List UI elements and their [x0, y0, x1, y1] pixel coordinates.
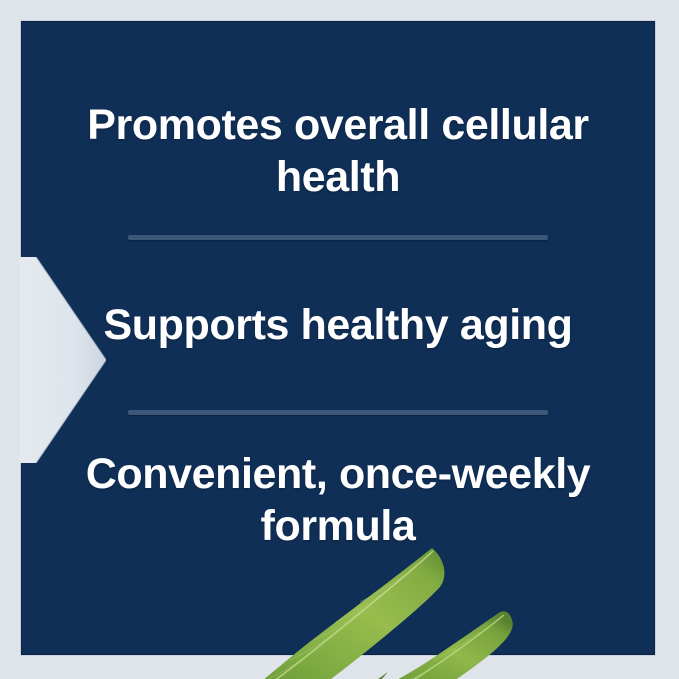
benefit-text: Convenient, once-weekly formula [75, 448, 601, 553]
panel-bottom-margin [0, 656, 679, 679]
benefit-text: Supports healthy aging [103, 299, 572, 351]
benefit-text: Promotes overall cellular health [75, 99, 601, 204]
benefit-item-healthy-aging: Supports healthy aging [61, 240, 615, 410]
benefit-item-cellular-health: Promotes overall cellular health [61, 67, 615, 235]
navy-benefits-panel: Promotes overall cellular health Support… [21, 21, 655, 655]
benefit-list: Promotes overall cellular health Support… [21, 21, 655, 655]
benefit-item-once-weekly: Convenient, once-weekly formula [61, 415, 615, 585]
benefits-graphic: Promotes overall cellular health Support… [0, 0, 679, 679]
